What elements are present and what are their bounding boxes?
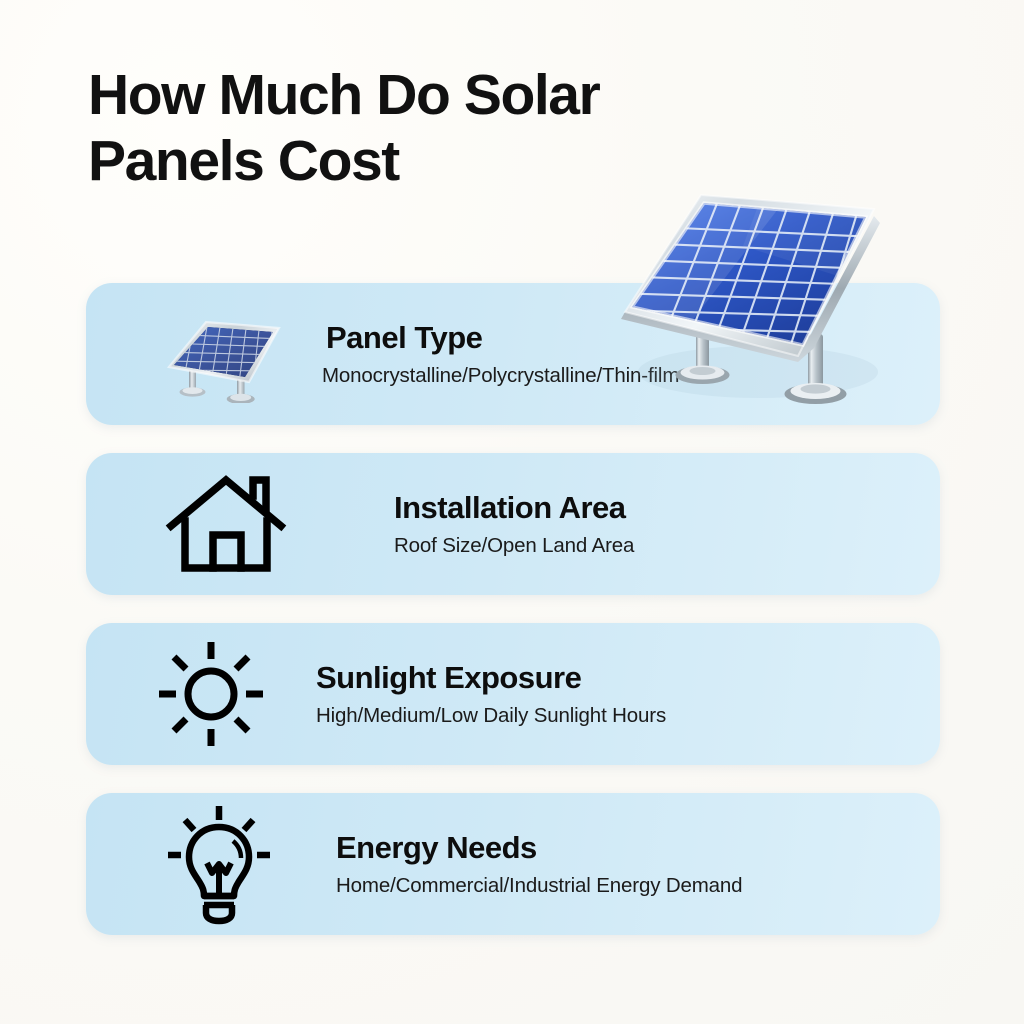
- info-card-panel-type[interactable]: Panel Type Monocrystalline/Polycrystalli…: [86, 283, 940, 425]
- installation-area-text: Installation Area Roof Size/Open Land Ar…: [394, 491, 634, 558]
- page-title: How Much Do Solar Panels Cost: [88, 62, 788, 194]
- panel-type-text: Panel Type Monocrystalline/Polycrystalli…: [322, 321, 679, 388]
- sun-icon: [155, 638, 267, 750]
- sunlight-exposure-text: Sunlight Exposure High/Medium/Low Daily …: [316, 661, 666, 728]
- info-card-sunlight-exposure[interactable]: Sunlight Exposure High/Medium/Low Daily …: [86, 623, 940, 765]
- energy-needs-text: Energy Needs Home/Commercial/Industrial …: [336, 831, 742, 898]
- solar-panel-icon: [153, 305, 285, 403]
- row-title: Sunlight Exposure: [316, 661, 581, 695]
- sunlight-exposure-icon-slot: [136, 638, 286, 750]
- lightbulb-icon: [165, 803, 273, 925]
- info-card-installation-area[interactable]: Installation Area Roof Size/Open Land Ar…: [86, 453, 940, 595]
- row-title: Energy Needs: [336, 831, 537, 865]
- row-subtitle: Monocrystalline/Polycrystalline/Thin-fil…: [322, 364, 679, 388]
- info-card-energy-needs[interactable]: Energy Needs Home/Commercial/Industrial …: [86, 793, 940, 935]
- house-icon: [165, 472, 287, 576]
- row-title: Installation Area: [394, 491, 626, 525]
- row-subtitle: High/Medium/Low Daily Sunlight Hours: [316, 704, 666, 728]
- infographic-page: How Much Do Solar Panels Cost: [0, 0, 1024, 1024]
- row-subtitle: Roof Size/Open Land Area: [394, 534, 634, 558]
- row-title: Panel Type: [326, 321, 482, 355]
- installation-area-icon-slot: [146, 472, 306, 576]
- panel-type-icon-slot: [134, 305, 304, 403]
- row-subtitle: Home/Commercial/Industrial Energy Demand: [336, 874, 742, 898]
- energy-needs-icon-slot: [144, 803, 294, 925]
